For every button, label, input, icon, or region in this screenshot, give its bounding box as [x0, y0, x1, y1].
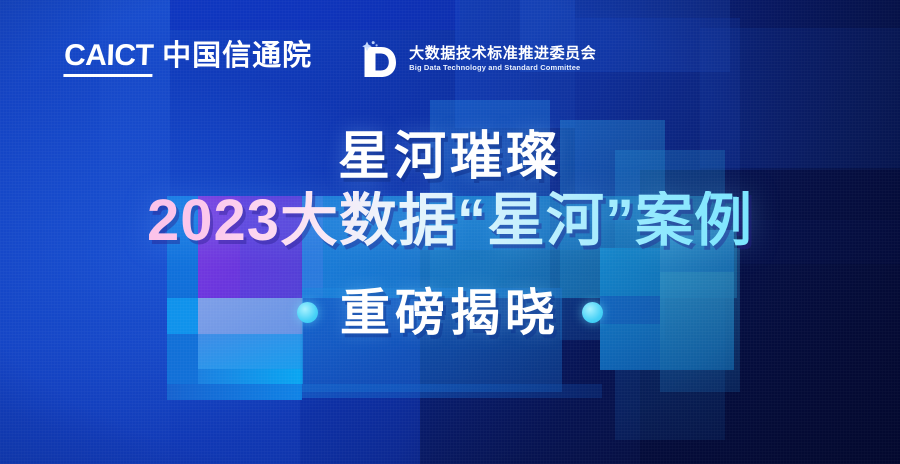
- decor-dot-left-icon: [297, 302, 318, 323]
- headline-block: 星河璀璨 2023大数据“星河”案例 重磅揭晓: [0, 0, 900, 464]
- decor-dot-right-icon: [582, 302, 603, 323]
- headline-line-2: 2023大数据“星河”案例: [147, 191, 753, 252]
- headline-line-3: 重磅揭晓: [340, 288, 560, 338]
- headline-line-1: 星河璀璨: [338, 131, 562, 183]
- headline-line-3-row: 重磅揭晓: [297, 288, 603, 338]
- promo-banner: CAICT 中国信通院 大数据技术标准推进委员会 Big Data Techno…: [0, 0, 900, 464]
